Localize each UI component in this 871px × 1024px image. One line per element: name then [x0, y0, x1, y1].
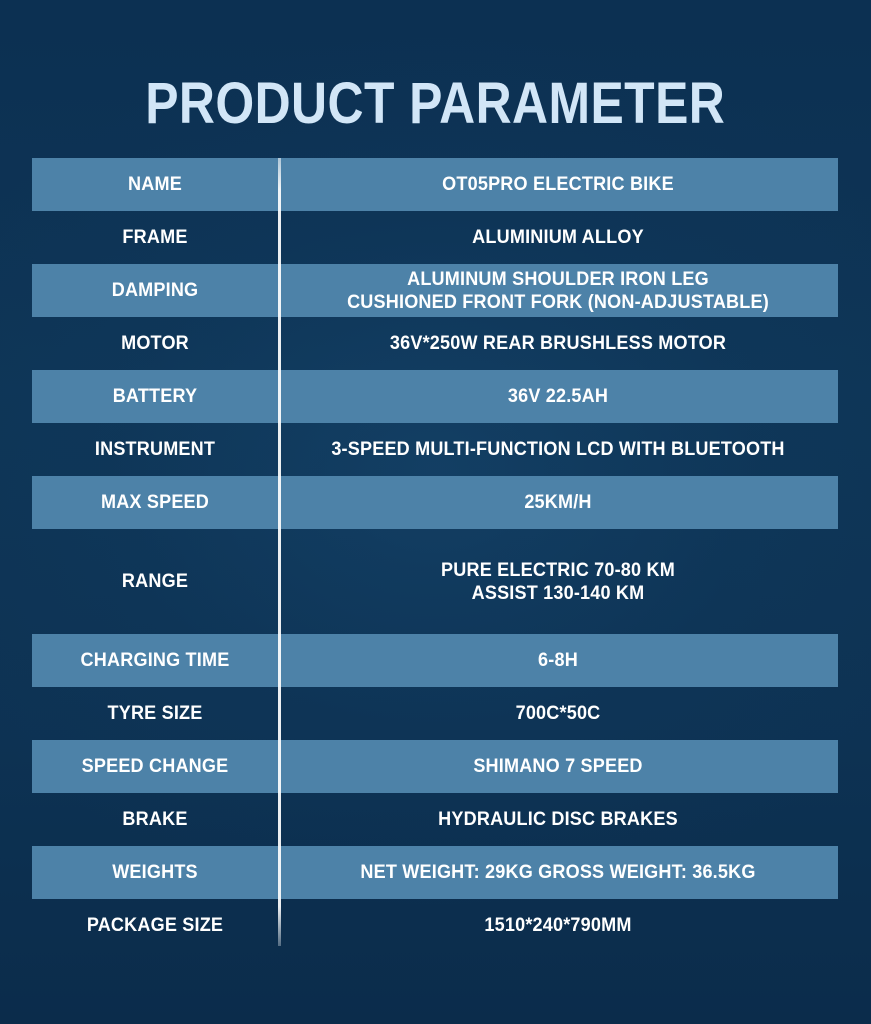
parameter-value-line: 700C*50C [516, 702, 601, 725]
table-row: FRAMEALUMINIUM ALLOY [32, 211, 838, 264]
table-row: WEIGHTSNET WEIGHT: 29KG GROSS WEIGHT: 36… [32, 846, 838, 899]
parameter-value-line: ASSIST 130-140 KM [441, 582, 675, 605]
page-title: PRODUCT PARAMETER [145, 73, 725, 135]
parameter-value: HYDRAULIC DISC BRAKES [292, 793, 824, 846]
table-row: RANGEPURE ELECTRIC 70-80 KMASSIST 130-14… [32, 529, 838, 634]
table-row: INSTRUMENT3-SPEED MULTI-FUNCTION LCD WIT… [32, 423, 838, 476]
parameter-value-line: 6-8H [538, 649, 578, 672]
parameter-value-line: NET WEIGHT: 29KG GROSS WEIGHT: 36.5KG [360, 861, 755, 884]
parameter-value-line: PURE ELECTRIC 70-80 KM [441, 559, 675, 582]
parameter-label: MAX SPEED [38, 476, 272, 529]
parameter-value: ALUMINUM SHOULDER IRON LEGCUSHIONED FRON… [292, 264, 824, 317]
parameter-label: PACKAGE SIZE [38, 899, 272, 952]
parameter-value: ALUMINIUM ALLOY [292, 211, 824, 264]
table-row: SPEED CHANGESHIMANO 7 SPEED [32, 740, 838, 793]
table-row: TYRE SIZE700C*50C [32, 687, 838, 740]
parameter-label: BRAKE [38, 793, 272, 846]
parameter-value-line: 25KM/H [524, 491, 591, 514]
parameter-value: 36V 22.5AH [292, 370, 824, 423]
table-row: BATTERY36V 22.5AH [32, 370, 838, 423]
parameter-value-line: HYDRAULIC DISC BRAKES [438, 808, 678, 831]
parameter-value: 6-8H [292, 634, 824, 687]
parameter-label: RANGE [38, 529, 272, 634]
parameter-label: DAMPING [38, 264, 272, 317]
table-row: MOTOR36V*250W REAR BRUSHLESS MOTOR [32, 317, 838, 370]
parameter-value: OT05PRO ELECTRIC BIKE [292, 158, 824, 211]
parameter-label: FRAME [38, 211, 272, 264]
parameter-value-line: 36V 22.5AH [508, 385, 608, 408]
table-row: CHARGING TIME6-8H [32, 634, 838, 687]
parameter-table: NAMEOT05PRO ELECTRIC BIKEFRAMEALUMINIUM … [32, 158, 838, 952]
parameter-label: TYRE SIZE [38, 687, 272, 740]
parameter-value: NET WEIGHT: 29KG GROSS WEIGHT: 36.5KG [292, 846, 824, 899]
parameter-value: 3-SPEED MULTI-FUNCTION LCD WITH BLUETOOT… [292, 423, 824, 476]
parameter-label: INSTRUMENT [38, 423, 272, 476]
parameter-label: CHARGING TIME [38, 634, 272, 687]
parameter-label: WEIGHTS [38, 846, 272, 899]
table-row: MAX SPEED25KM/H [32, 476, 838, 529]
parameter-value-line: ALUMINUM SHOULDER IRON LEG [347, 268, 769, 291]
parameter-label: NAME [38, 158, 272, 211]
parameter-value: PURE ELECTRIC 70-80 KMASSIST 130-140 KM [292, 529, 824, 634]
parameter-value: 700C*50C [292, 687, 824, 740]
parameter-value-line: ALUMINIUM ALLOY [472, 226, 644, 249]
page-title-container: PRODUCT PARAMETER [0, 34, 871, 174]
parameter-value: 25KM/H [292, 476, 824, 529]
parameter-label: SPEED CHANGE [38, 740, 272, 793]
parameter-label: BATTERY [38, 370, 272, 423]
parameter-value: 36V*250W REAR BRUSHLESS MOTOR [292, 317, 824, 370]
parameter-value-line: SHIMANO 7 SPEED [473, 755, 642, 778]
parameter-value-line: CUSHIONED FRONT FORK (NON-ADJUSTABLE) [347, 291, 769, 314]
parameter-value-line: 36V*250W REAR BRUSHLESS MOTOR [390, 332, 726, 355]
parameter-label: MOTOR [38, 317, 272, 370]
table-row: PACKAGE SIZE1510*240*790MM [32, 899, 838, 952]
parameter-value: 1510*240*790MM [292, 899, 824, 952]
parameter-value-line: OT05PRO ELECTRIC BIKE [442, 173, 674, 196]
product-parameter-page: PRODUCT PARAMETER NAMEOT05PRO ELECTRIC B… [0, 0, 871, 1024]
parameter-value-line: 3-SPEED MULTI-FUNCTION LCD WITH BLUETOOT… [331, 438, 784, 461]
table-row: DAMPINGALUMINUM SHOULDER IRON LEGCUSHION… [32, 264, 838, 317]
table-row: BRAKEHYDRAULIC DISC BRAKES [32, 793, 838, 846]
table-row: NAMEOT05PRO ELECTRIC BIKE [32, 158, 838, 211]
parameter-value-line: 1510*240*790MM [484, 914, 631, 937]
parameter-value: SHIMANO 7 SPEED [292, 740, 824, 793]
